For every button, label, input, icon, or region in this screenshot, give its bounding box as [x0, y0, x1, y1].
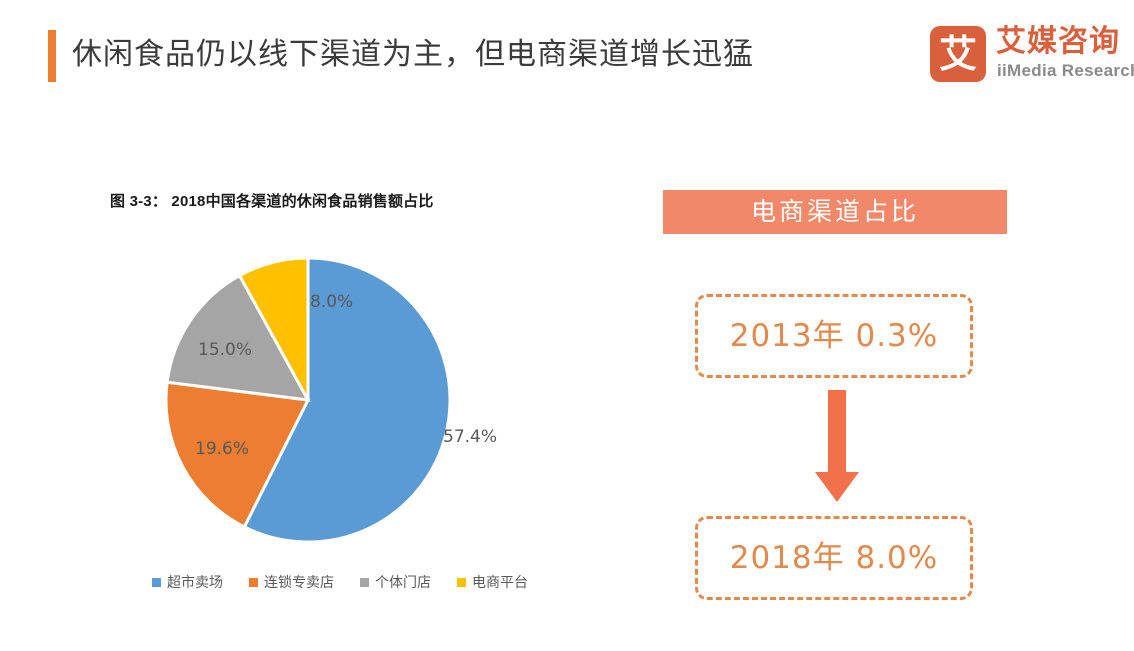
- pie-chart-panel: 图 3-3： 2018中国各渠道的休闲食品销售额占比 57.4% 19.6% 1…: [100, 180, 580, 620]
- page-header: 休闲食品仍以线下渠道为主，但电商渠道增长迅猛 艾 艾媒咨询 iiMedia Re…: [0, 0, 1134, 112]
- title-accent-bar: [48, 30, 56, 82]
- down-arrow-icon: [813, 390, 861, 506]
- legend-swatch-icon-3: [457, 578, 466, 587]
- legend-label-3: 电商平台: [472, 572, 528, 592]
- ecommerce-banner-title: 电商渠道占比: [663, 190, 1007, 234]
- legend-label-0: 超市卖场: [167, 572, 223, 592]
- pie-slices: [166, 258, 450, 542]
- legend-label-2: 个体门店: [375, 572, 431, 592]
- chart-title: 图 3-3： 2018中国各渠道的休闲食品销售额占比: [110, 190, 434, 211]
- legend-swatch-icon-2: [360, 578, 369, 587]
- stat-box-2013: 2013年 0.3%: [695, 294, 973, 378]
- logo-name-cn: 艾媒咨询: [996, 24, 1120, 60]
- legend-item-3[interactable]: 电商平台: [457, 572, 528, 592]
- legend-item-1[interactable]: 连锁专卖店: [249, 572, 334, 592]
- legend-swatch-icon-0: [152, 578, 161, 587]
- pie-slice-value-2: 15.0%: [198, 340, 252, 360]
- pie-chart-svg: [160, 252, 456, 548]
- legend-item-2[interactable]: 个体门店: [360, 572, 431, 592]
- legend-swatch-icon-1: [249, 578, 258, 587]
- ecommerce-share-panel: 电商渠道占比 2013年 0.3% 2018年 8.0%: [663, 186, 1009, 606]
- pie-slice-value-0: 57.4%: [443, 427, 497, 447]
- pie-slice-value-3: 8.0%: [310, 292, 353, 312]
- logo-mark-icon: 艾: [930, 26, 986, 82]
- page-title: 休闲食品仍以线下渠道为主，但电商渠道增长迅猛: [72, 31, 754, 79]
- pie-chart: 57.4% 19.6% 15.0% 8.0%: [160, 252, 456, 548]
- chart-legend: 超市卖场 连锁专卖店 个体门店 电商平台: [110, 572, 570, 592]
- legend-item-0[interactable]: 超市卖场: [152, 572, 223, 592]
- legend-label-1: 连锁专卖店: [264, 572, 334, 592]
- pie-slice-value-1: 19.6%: [195, 439, 249, 459]
- brand-logo: 艾 艾媒咨询 iiMedia Research: [930, 24, 1118, 86]
- stat-box-2018: 2018年 8.0%: [695, 516, 973, 600]
- logo-name-en: iiMedia Research: [997, 61, 1134, 81]
